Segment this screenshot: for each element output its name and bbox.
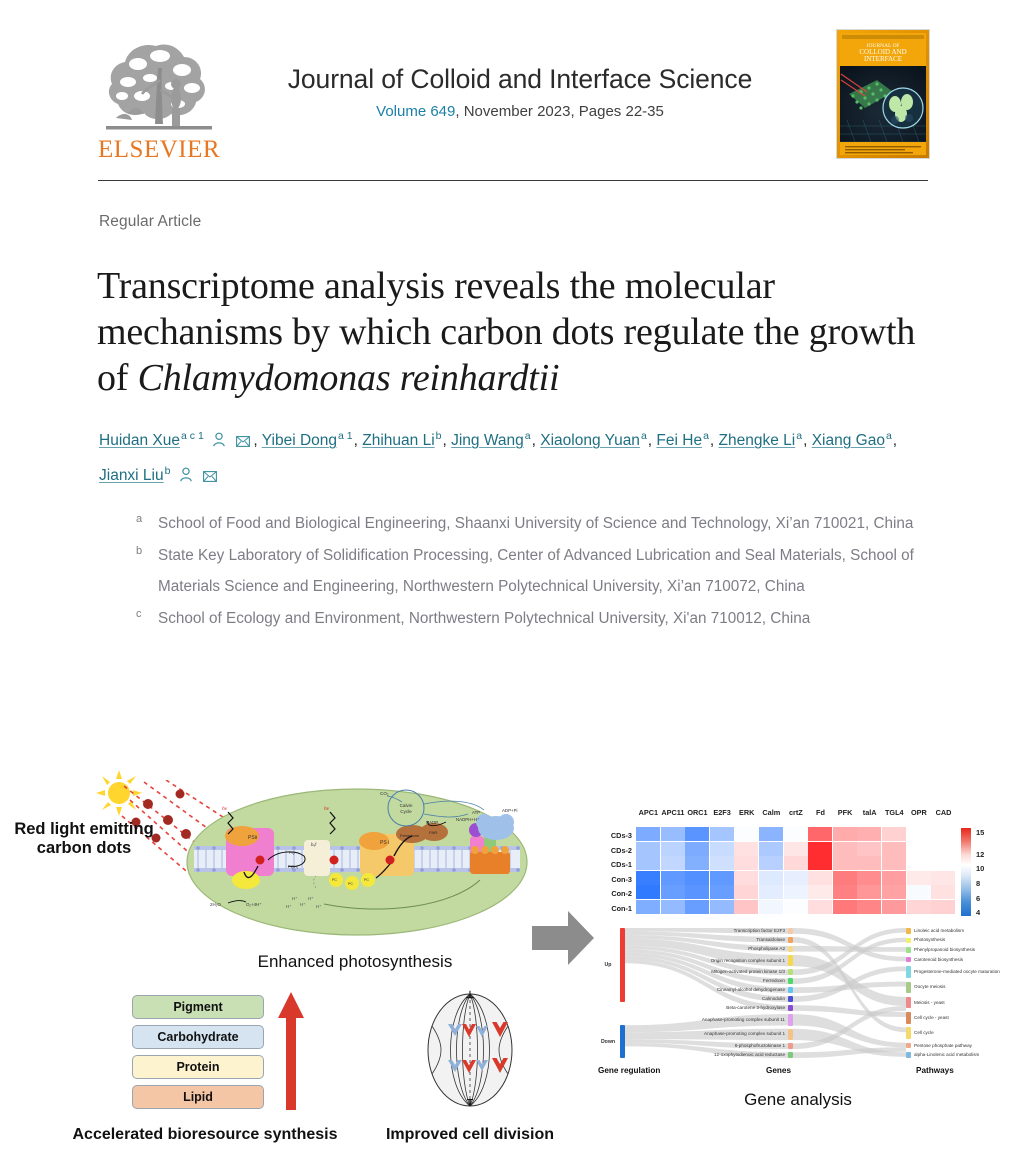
author-entry[interactable]: Huidan Xuea c 1 , [99, 432, 258, 449]
sankey-node-label-gene: 6-phosphofructokinase 1 [598, 1043, 785, 1048]
author-affil-marks: a [640, 421, 648, 451]
author-name[interactable]: Jianxi Liu [99, 467, 164, 484]
heatmap-cell [661, 871, 685, 885]
article-type-label: Regular Article [99, 213, 201, 231]
heatmap-cell [857, 871, 881, 885]
heatmap-cell [931, 885, 955, 899]
gene-analysis-caption: Gene analysis [598, 1090, 998, 1110]
journal-title: Journal of Colloid and Interface Science [230, 62, 810, 96]
elsevier-wordmark: ELSEVIER [98, 136, 220, 164]
colorbar-tick: 6 [976, 894, 980, 903]
author-affil-marks: a 1 [337, 421, 354, 451]
colorbar-tick: 4 [976, 908, 980, 917]
author-entry[interactable]: Jing Wanga, [451, 432, 536, 449]
heatmap-cell [907, 827, 931, 841]
author-affil-marks: a [885, 421, 893, 451]
heatmap-cell [808, 871, 832, 885]
svg-text:PC: PC [364, 878, 369, 882]
author-sep: , [710, 432, 714, 449]
affiliation-text: State Key Laboratory of Solidification P… [158, 547, 914, 596]
heatmap-cell [636, 900, 660, 914]
sankey-node-label-gene: Transaldolase [598, 937, 785, 942]
heatmap-cell [636, 842, 660, 856]
sankey-node-label-gene: Ferredoxin [598, 978, 785, 983]
sankey-node-label-pathway: Photosynthesis [914, 937, 945, 942]
heatmap-cell [710, 827, 734, 841]
journal-cover-image[interactable]: JOURNAL OF COLLOID AND INTERFACE [836, 29, 930, 159]
heatmap-row-label: CDs-3 [598, 831, 632, 840]
author-entry[interactable]: Zhengke Lia, [719, 432, 808, 449]
heatmap-cell [907, 842, 931, 856]
heatmap-cell [710, 871, 734, 885]
sankey-node-pathway [906, 966, 911, 977]
heatmap-cell [685, 871, 709, 885]
bioresource-item: Lipid [132, 1085, 264, 1109]
heatmap-cell [808, 885, 832, 899]
svg-text:Cycle: Cycle [400, 809, 412, 814]
sankey-node-label-gene: Phospholipase A2 [598, 946, 785, 951]
sankey-node-label-gene: Mitogen-activated protein kinase 1/3 [598, 969, 785, 974]
author-sep: , [442, 432, 446, 449]
heatmap-cell [661, 885, 685, 899]
author-sep: , [532, 432, 536, 449]
heatmap-cell [833, 827, 857, 841]
svg-text:H⁺: H⁺ [308, 896, 314, 901]
sankey-node-label-gene: Beta-carotene 3-hydroxylase [598, 1005, 785, 1010]
sankey-node-label-pathway: Progesterone-mediated oocyte maturation [914, 969, 1000, 974]
heatmap-cell [882, 842, 906, 856]
sankey-node-gene [788, 955, 793, 966]
author-entry[interactable]: Fei Hea, [656, 432, 714, 449]
page-title: Transcriptome analysis reveals the molec… [97, 263, 947, 401]
heatmap-cell [685, 827, 709, 841]
heatmap-row-label: CDs-1 [598, 860, 632, 869]
sankey-node-pathway [906, 928, 911, 934]
heatmap-cell [882, 871, 906, 885]
author-entry[interactable]: Jianxi Liub [99, 467, 220, 484]
heatmap-cell [759, 871, 783, 885]
heatmap-cell [931, 856, 955, 870]
author-name[interactable]: Xiang Gao [812, 432, 885, 449]
sankey-node-pathway [906, 982, 911, 993]
heatmap-cell [685, 900, 709, 914]
affiliation-text: School of Food and Biological Engineerin… [158, 515, 913, 532]
affiliation-item: cSchool of Ecology and Environment, Nort… [132, 603, 942, 635]
svg-text:NADPH+H⁺: NADPH+H⁺ [456, 817, 479, 822]
cover-art: JOURNAL OF COLLOID AND INTERFACE [837, 30, 929, 158]
colorbar-tick: 12 [976, 850, 984, 859]
svg-text:2H₂O: 2H₂O [210, 902, 221, 907]
sankey-node-gene [788, 987, 793, 993]
heatmap-cell [784, 871, 808, 885]
author-sep: , [893, 432, 897, 449]
sankey-node-label-regulation: Up [598, 962, 618, 968]
author-sep: , [803, 432, 807, 449]
heatmap-cell [882, 856, 906, 870]
sankey-node-gene [788, 1029, 793, 1040]
heatmap-column-headers: APC1APC11ORC1E2F3ERKCalmcrtZFdPFKtalATGL… [636, 808, 956, 824]
affiliation-item: bState Key Laboratory of Solidification … [132, 540, 942, 603]
sankey-node-gene [788, 978, 793, 984]
author-email-icon[interactable] [203, 471, 217, 482]
heatmap-colorbar [961, 828, 971, 916]
heatmap-cell [661, 856, 685, 870]
sankey-node-label-pathway: Cell cycle [914, 1030, 934, 1035]
heatmap-cell [931, 900, 955, 914]
sankey-node-label-pathway: Oocyte meiosis [914, 984, 945, 989]
svg-text:hv: hv [324, 806, 330, 812]
heatmap-cell [808, 842, 832, 856]
affiliation-item: aSchool of Food and Biological Engineeri… [132, 508, 942, 540]
author-name[interactable]: Zhihuan Li [362, 432, 434, 449]
red-light-caption: Red light emittingcarbon dots [4, 820, 164, 858]
author-name[interactable]: Fei He [656, 432, 702, 449]
sankey-node-label-pathway: alpha-Linolenic acid metabolism [914, 1052, 979, 1057]
author-affil-marks: a c 1 [180, 421, 205, 451]
heatmap-cell [833, 856, 857, 870]
author-list: Huidan Xuea c 1 , Yibei Donga 1, Zhihuan… [99, 421, 939, 491]
heatmap-cell [808, 856, 832, 870]
author-entry[interactable]: Yibei Donga 1, [262, 432, 358, 449]
accelerated-bioresource-caption: Accelerated bioresource synthesis [55, 1126, 355, 1144]
heatmap-cell [636, 885, 660, 899]
journal-issue-line: Volume 649, November 2023, Pages 22-35 [230, 103, 810, 120]
author-entry[interactable]: Xiaolong Yuana, [540, 432, 652, 449]
heatmap-cell [636, 856, 660, 870]
heatmap-cell [710, 900, 734, 914]
colorbar-tick: 10 [976, 864, 984, 873]
heatmap-cell [734, 900, 758, 914]
heatmap-cell [661, 842, 685, 856]
heatmap-cell [636, 871, 660, 885]
upward-arrow-icon [278, 992, 304, 1110]
chloroplast-diagram: PSⅡ b₆f PS Ⅰ Ferredoxin FNR Calvin [184, 788, 530, 936]
author-affil-marks: a [702, 421, 710, 451]
heatmap-cell [685, 856, 709, 870]
heatmap-cell [857, 842, 881, 856]
heatmap-cell [907, 885, 931, 899]
svg-text:PSⅡ: PSⅡ [248, 835, 257, 841]
heatmap-row-label: Con-1 [598, 904, 632, 913]
sankey-node-pathway [906, 1043, 911, 1049]
svg-text:H⁺: H⁺ [300, 902, 306, 907]
sankey-axis-label-left: Gene regulation [598, 1066, 660, 1075]
sankey-node-gene [788, 1052, 793, 1058]
right-arrow-icon [532, 908, 594, 968]
heatmap-cell [833, 885, 857, 899]
svg-text:FNR: FNR [429, 830, 437, 835]
heatmap-cell [710, 842, 734, 856]
sankey-node-pathway [906, 1052, 911, 1058]
bioresource-item: Pigment [132, 995, 264, 1019]
author-sep: , [253, 432, 257, 449]
author-name[interactable]: Jing Wang [451, 432, 524, 449]
author-email-icon[interactable] [236, 436, 250, 447]
heatmap-cell [734, 885, 758, 899]
sankey-node-label-gene: 12-oxophytodienoic acid reductase [598, 1052, 785, 1057]
heatmap-cell [907, 871, 931, 885]
heatmap-cell [734, 856, 758, 870]
sankey-node-gene [788, 1005, 793, 1011]
cell-division-diagram: ⊥ T [410, 990, 530, 1110]
heatmap-cell [907, 900, 931, 914]
heatmap-cell [784, 885, 808, 899]
journal-header: ELSEVIER Journal of Colloid and Interfac… [0, 0, 1024, 182]
svg-text:O₂+4H⁺: O₂+4H⁺ [246, 902, 262, 907]
svg-text:ATP: ATP [472, 810, 480, 815]
heatmap-cell [784, 827, 808, 841]
heatmap-row-label: Con-3 [598, 875, 632, 884]
author-profile-icon[interactable] [212, 432, 226, 447]
header-divider [98, 180, 928, 181]
sankey-node-label-gene: Origin recognition complex subunit 1 [598, 958, 785, 963]
heatmap-cell [931, 842, 955, 856]
journal-volume: Volume 649 [376, 103, 455, 120]
svg-text:⊥: ⊥ [466, 990, 475, 1001]
svg-text:H⁺: H⁺ [316, 904, 322, 909]
svg-text:PC: PC [348, 882, 353, 886]
bioresource-item: Carbohydrate [132, 1025, 264, 1049]
heatmap-cell [931, 827, 955, 841]
sankey-node-label-pathway: Linoleic acid metabolism [914, 928, 964, 933]
affiliation-list: aSchool of Food and Biological Engineeri… [132, 508, 942, 634]
heatmap-cell [734, 871, 758, 885]
heatmap-cell [734, 842, 758, 856]
svg-text:CO₂: CO₂ [380, 791, 389, 796]
sankey-node-label-pathway: Pentose phosphate pathway [914, 1043, 972, 1048]
affiliation-mark: c [136, 599, 142, 631]
sankey-node-label-pathway: Phenylpropanoid biosynthesis [914, 947, 975, 952]
author-entry[interactable]: Xiang Gaoa, [812, 432, 897, 449]
author-name[interactable]: Xiaolong Yuan [540, 432, 640, 449]
heatmap-cell [808, 827, 832, 841]
author-sep: , [648, 432, 652, 449]
affiliation-mark: b [136, 536, 142, 568]
heatmap-row-label: Con-2 [598, 889, 632, 898]
sankey-node-label-gene: Anaphase-promoting complex subunit 1 [598, 1031, 785, 1036]
author-affil-marks: a [524, 421, 532, 451]
enhanced-photosynthesis-caption: Enhanced photosynthesis [180, 952, 530, 972]
sankey-node-gene [788, 1043, 793, 1049]
heatmap-cell [833, 900, 857, 914]
svg-text:H⁺: H⁺ [286, 904, 292, 909]
heatmap-cell [685, 842, 709, 856]
sankey-node-label-pathway: Meiosis - yeast [914, 1000, 945, 1005]
heatmap-cell [882, 900, 906, 914]
heatmap-cell [661, 827, 685, 841]
heatmap-cell [759, 885, 783, 899]
heatmap-cell [636, 827, 660, 841]
heatmap-cell [857, 856, 881, 870]
gene-expression-heatmap: APC1APC11ORC1E2F3ERKCalmcrtZFdPFKtalATGL… [598, 808, 998, 928]
svg-text:H⁺: H⁺ [292, 896, 298, 901]
svg-text:PS Ⅰ: PS Ⅰ [380, 840, 390, 846]
sankey-node-label-gene: Transcription factor E2F3 [598, 928, 785, 933]
heatmap-cell [907, 856, 931, 870]
sankey-node-pathway [906, 957, 911, 963]
affiliation-mark: a [136, 504, 142, 536]
heatmap-cell [857, 827, 881, 841]
heatmap-cell [759, 842, 783, 856]
heatmap-cell [759, 827, 783, 841]
sankey-node-pathway [906, 947, 911, 953]
sankey-node-gene [788, 937, 793, 943]
sankey-node-gene [788, 928, 793, 934]
heatmap-cell [857, 900, 881, 914]
heatmap-cell [734, 827, 758, 841]
svg-text:T: T [467, 1098, 473, 1109]
heatmap-cell [784, 856, 808, 870]
affiliation-text: School of Ecology and Environment, North… [158, 610, 810, 627]
graphical-abstract: Red light emittingcarbon dots [0, 760, 1024, 1161]
sankey-node-pathway [906, 1027, 911, 1038]
sankey-node-label-gene: Cinnamyl-alcohol dehydrogenase [598, 987, 785, 992]
title-species: Chlamydomonas reinhardtii [138, 357, 560, 399]
heatmap-cell [710, 885, 734, 899]
sankey-node-label-pathway: Carotenoid biosynthesis [914, 957, 963, 962]
svg-text:Calvin: Calvin [400, 803, 413, 808]
elsevier-logo: ELSEVIER [98, 28, 220, 164]
heatmap-cell [857, 885, 881, 899]
sankey-node-gene [788, 946, 793, 952]
sankey-node-gene [788, 969, 793, 975]
heatmap-row-label: CDs-2 [598, 846, 632, 855]
article-page: ELSEVIER Journal of Colloid and Interfac… [0, 0, 1024, 1161]
author-name[interactable]: Huidan Xue [99, 432, 180, 449]
author-name[interactable]: Zhengke Li [719, 432, 796, 449]
svg-text:PC: PC [332, 878, 337, 882]
bioresource-stack: Pigment Carbohydrate Protein Lipid [132, 995, 264, 1115]
sankey-node-gene [788, 996, 793, 1002]
svg-text:b₆f: b₆f [311, 842, 317, 847]
journal-info: Journal of Colloid and Interface Science… [230, 62, 810, 120]
heatmap-cell [833, 842, 857, 856]
sankey-node-label-gene: Anaphase-promoting complex subunit 11 [598, 1017, 785, 1022]
heatmap-cell [710, 856, 734, 870]
heatmap-cell [685, 885, 709, 899]
sankey-node-pathway [906, 938, 911, 944]
sankey-node-pathway [906, 1012, 911, 1023]
bioresource-item: Protein [132, 1055, 264, 1079]
gene-pathway-sankey: UpDownTranscription factor E2F3Transaldo… [598, 926, 998, 1086]
sankey-node-pathway [906, 997, 911, 1008]
cell-division-caption: Improved cell division [365, 1126, 575, 1144]
heatmap-cell [808, 900, 832, 914]
journal-issue-info: , November 2023, Pages 22-35 [455, 103, 663, 120]
colorbar-tick: 8 [976, 879, 980, 888]
heatmap-cell [882, 885, 906, 899]
heatmap-cell [833, 871, 857, 885]
svg-text:ADP+Pi: ADP+Pi [502, 808, 518, 813]
heatmap-cell [759, 856, 783, 870]
heatmap-cell [759, 900, 783, 914]
svg-text:INTERFACE: INTERFACE [864, 55, 902, 63]
author-entry[interactable]: Zhihuan Lib, [362, 432, 447, 449]
colorbar-tick: 15 [976, 828, 984, 837]
sankey-node-gene [788, 1014, 793, 1025]
author-name[interactable]: Yibei Dong [262, 432, 337, 449]
heatmap-column-header: CAD [927, 808, 960, 817]
author-affil-marks: a [795, 421, 803, 451]
sankey-node-label-gene: Calmodulin [598, 996, 785, 1001]
heatmap-cell [882, 827, 906, 841]
svg-text:hv: hv [222, 806, 228, 812]
author-sep: , [354, 432, 358, 449]
sankey-node-label-pathway: Cell cycle - yeast [914, 1015, 949, 1020]
heatmap-cell [661, 900, 685, 914]
sankey-axis-label-right: Pathways [916, 1066, 954, 1075]
heatmap-cell [784, 900, 808, 914]
heatmap-cell [784, 842, 808, 856]
sankey-axis-label-mid: Genes [766, 1066, 791, 1075]
author-affil-marks: b [164, 456, 172, 486]
heatmap-cell [931, 871, 955, 885]
elsevier-tree-icon [98, 28, 220, 138]
author-profile-icon[interactable] [179, 467, 193, 482]
